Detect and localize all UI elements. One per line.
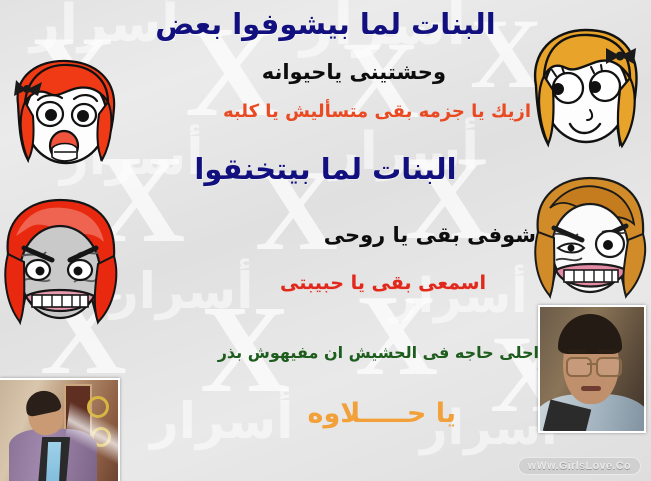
site-watermark: wWw.GirlsLove.Co <box>518 457 641 475</box>
photo-mouth <box>581 386 602 391</box>
meme-line-6: يا حـــــلاوه <box>308 400 457 427</box>
photo-man-purple-suit <box>0 378 120 481</box>
meme-image: X X X X X X X X X X X أسرار أسرار أسرار … <box>0 0 651 481</box>
photo-man-glasses <box>538 305 646 433</box>
meme-heading-2: البنات لما بيتخنقوا <box>0 155 651 184</box>
photo-glasses-right-lens <box>596 357 622 377</box>
photo-glasses-bridge <box>587 363 596 365</box>
meme-line-5: احلى حاجه فى الحشيش ان مفيهوش بذر <box>218 345 539 361</box>
rage-face-redhead-sad <box>4 58 129 170</box>
meme-line-3: شوفى بقى يا روحى <box>324 225 536 246</box>
rage-face-blonde-angry <box>532 174 651 302</box>
rage-face-redhead-angry <box>0 196 122 328</box>
meme-line-1: وحشتينى ياحيوانه <box>262 62 446 83</box>
background-word-asrar: أسرار <box>150 392 293 450</box>
background-word-asrar: أسرار <box>110 262 253 320</box>
rage-face-blonde-happy <box>524 24 648 154</box>
photo-glasses-left-lens <box>566 357 592 377</box>
meme-line-4: اسمعى بقى يا حبيبتى <box>280 274 486 293</box>
meme-heading-1: البنات لما بيشوفوا بعض <box>0 10 651 39</box>
background-x-glyph: X <box>355 290 438 382</box>
photo-eyebrow-left <box>567 349 587 353</box>
meme-line-2: ازيك يا جزمه بقى متسأليش يا كلبه <box>223 103 531 121</box>
photo-eyebrow-right <box>597 349 617 353</box>
